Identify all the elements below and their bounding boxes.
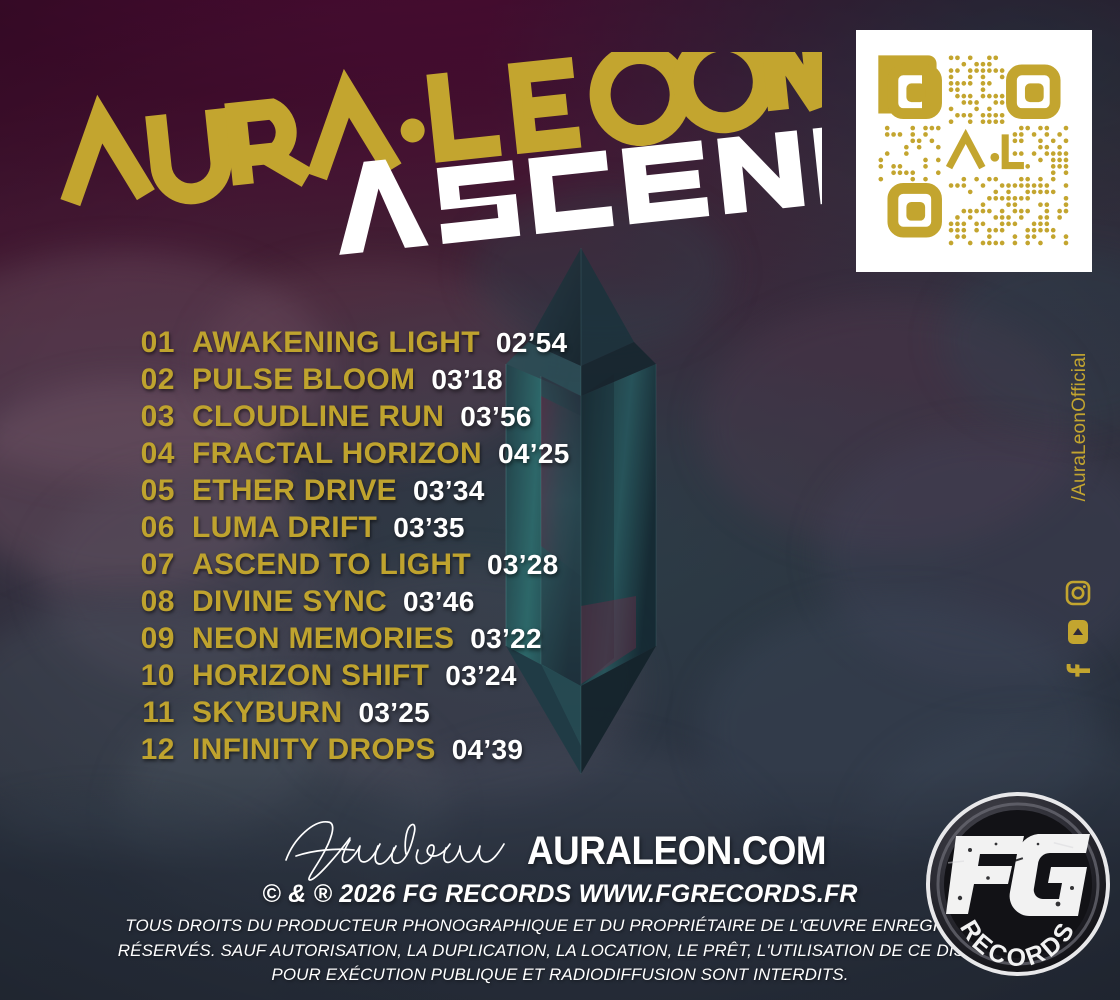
track-number: 05 <box>0 474 175 508</box>
track-title: LUMA DRIFT <box>192 511 377 545</box>
track-duration: 03’28 <box>487 549 559 581</box>
social-rail: /AuraLeonOfficial <box>1052 300 1106 660</box>
track-row: 12INFINITY DROPS04’39 <box>0 733 680 770</box>
track-duration: 03’35 <box>393 512 465 544</box>
track-row: 04FRACTAL HORIZON04’25 <box>0 437 680 474</box>
track-title: PULSE BLOOM <box>192 363 415 397</box>
track-row: 09NEON MEMORIES03’22 <box>0 622 680 659</box>
track-duration: 04’39 <box>452 734 524 766</box>
qr-code[interactable] <box>856 30 1092 272</box>
website-url[interactable]: AURALEON.COM <box>527 829 826 874</box>
track-row: 08DIVINE SYNC03’46 <box>0 585 680 622</box>
track-number: 10 <box>0 659 175 693</box>
track-duration: 04’25 <box>498 438 570 470</box>
signature-auraleon: Auraleon <box>280 816 520 882</box>
track-title: INFINITY DROPS <box>192 733 436 767</box>
facebook-icon[interactable] <box>1065 658 1091 684</box>
track-row: 06LUMA DRIFT03’35 <box>0 511 680 548</box>
track-number: 02 <box>0 363 175 397</box>
track-title: SKYBURN <box>192 696 342 730</box>
track-duration: 03’18 <box>431 364 503 396</box>
track-row: 11SKYBURN03’25 <box>0 696 680 733</box>
track-title: FRACTAL HORIZON <box>192 437 482 471</box>
instagram-icon[interactable] <box>1065 580 1091 606</box>
track-number: 09 <box>0 622 175 656</box>
track-row: 02PULSE BLOOM03’18 <box>0 363 680 400</box>
track-row: 01AWAKENING LIGHT02’54 <box>0 326 680 363</box>
track-title: HORIZON SHIFT <box>192 659 429 693</box>
track-row: 05ETHER DRIVE03’34 <box>0 474 680 511</box>
track-row: 03CLOUDLINE RUN03’56 <box>0 400 680 437</box>
track-title: NEON MEMORIES <box>192 622 454 656</box>
youtube-icon[interactable] <box>1065 619 1091 645</box>
legal-line-3: POUR EXÉCUTION PUBLIQUE ET RADIODIFFUSIO… <box>55 963 1065 988</box>
track-title: CLOUDLINE RUN <box>192 400 444 434</box>
social-icon-group <box>1056 580 1100 684</box>
track-row: 07ASCEND TO LIGHT03’28 <box>0 548 680 585</box>
track-number: 04 <box>0 437 175 471</box>
track-duration: 03’56 <box>460 401 532 433</box>
track-title: AWAKENING LIGHT <box>192 326 480 360</box>
album-back-cover: AURA·LEON <box>0 0 1120 1000</box>
track-duration: 03’46 <box>403 586 475 618</box>
track-duration: 03’25 <box>358 697 430 729</box>
track-number: 03 <box>0 400 175 434</box>
track-duration: 02’54 <box>496 327 568 359</box>
track-number: 08 <box>0 585 175 619</box>
track-title: ASCEND TO LIGHT <box>192 548 471 582</box>
track-number: 11 <box>0 696 175 730</box>
track-duration: 03’34 <box>413 475 485 507</box>
artist-album-logo: AURA·LEON <box>52 52 822 267</box>
tracklist: 01AWAKENING LIGHT02’5402PULSE BLOOM03’18… <box>0 326 680 770</box>
track-title: ETHER DRIVE <box>192 474 397 508</box>
track-number: 01 <box>0 326 175 360</box>
track-duration: 03’24 <box>445 660 517 692</box>
fg-records-logo: RECORDS <box>926 792 1110 976</box>
track-number: 12 <box>0 733 175 767</box>
track-duration: 03’22 <box>470 623 542 655</box>
legal-line-2: RÉSERVÉS. SAUF AUTORISATION, LA DUPLICAT… <box>55 939 1065 964</box>
track-number: 07 <box>0 548 175 582</box>
track-title: DIVINE SYNC <box>192 585 387 619</box>
track-number: 06 <box>0 511 175 545</box>
legal-line-1: TOUS DROITS DU PRODUCTEUR PHONOGRAPHIQUE… <box>55 914 1065 939</box>
track-row: 10HORIZON SHIFT03’24 <box>0 659 680 696</box>
social-handle: /AuraLeonOfficial <box>1069 287 1091 567</box>
